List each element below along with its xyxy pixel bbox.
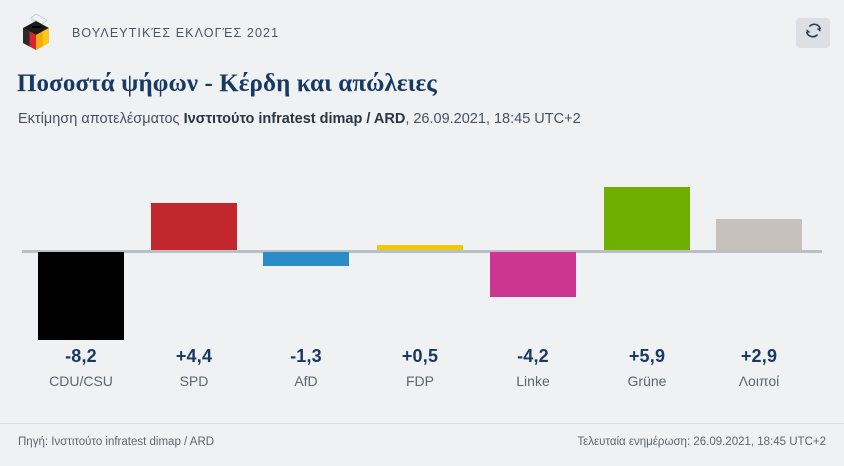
bar-category-label: Linke [473,370,593,392]
bar-afd[interactable] [263,252,349,266]
bar-value-label: -4,2 [473,345,593,367]
label-group: -8,2CDU/CSU [21,345,141,392]
bar-value-label: -8,2 [21,345,141,367]
bar-chart: -8,2CDU/CSU+4,4SPD-1,3AfD+0,5FDP-4,2Link… [0,150,844,405]
bar-category-label: FDP [360,370,480,392]
bar-fdp[interactable] [377,245,463,250]
label-group: -4,2Linke [473,345,593,392]
refresh-icon [804,21,823,45]
header: ΒΟΥΛΕΥΤΙΚΈΣ ΕΚΛΟΓΈΣ 2021 [0,0,844,62]
refresh-button[interactable] [796,18,830,48]
brand: ΒΟΥΛΕΥΤΙΚΈΣ ΕΚΛΟΓΈΣ 2021 [16,12,279,54]
subtitle-prefix: Εκτίμηση αποτελέσματος [18,111,184,127]
bar-[interactable] [716,219,802,250]
bar-value-label: +4,4 [134,345,254,367]
page-title: Ποσοστά ψήφων - Κέρδη και απώλειες [17,70,437,98]
ballot-box-icon [16,12,58,54]
bar-linke[interactable] [490,252,576,297]
footer: Πηγή: Ινστιτούτο infratest dimap / ARD Τ… [0,423,844,466]
bar-gr-ne[interactable] [604,187,690,250]
label-group: -1,3AfD [246,345,366,392]
bar-category-label: AfD [246,370,366,392]
label-group: +5,9Grüne [587,345,707,392]
subtitle-source: Ινστιτούτο infratest dimap / ARD [184,111,406,127]
bar-cdu-csu[interactable] [38,252,124,340]
zero-baseline [22,250,822,253]
labels-layer: -8,2CDU/CSU+4,4SPD-1,3AfD+0,5FDP-4,2Link… [0,345,844,405]
bar-value-label: +2,9 [699,345,819,367]
bar-value-label: +5,9 [587,345,707,367]
bar-value-label: -1,3 [246,345,366,367]
bar-category-label: CDU/CSU [21,370,141,392]
brand-title: ΒΟΥΛΕΥΤΙΚΈΣ ΕΚΛΟΓΈΣ 2021 [72,26,279,40]
bar-spd[interactable] [151,203,237,250]
bar-category-label: SPD [134,370,254,392]
page-subtitle: Εκτίμηση αποτελέσματος Ινστιτούτο infrat… [18,111,581,127]
label-group: +0,5FDP [360,345,480,392]
label-group: +4,4SPD [134,345,254,392]
bar-value-label: +0,5 [360,345,480,367]
subtitle-suffix: , 26.09.2021, 18:45 UTC+2 [405,111,580,127]
footer-source: Πηγή: Ινστιτούτο infratest dimap / ARD [18,436,214,448]
footer-updated: Τελευταία ενημέρωση: 26.09.2021, 18:45 U… [577,436,826,448]
bar-category-label: Λοιποί [699,370,819,392]
label-group: +2,9Λοιποί [699,345,819,392]
election-chart-page: ΒΟΥΛΕΥΤΙΚΈΣ ΕΚΛΟΓΈΣ 2021 Ποσοστά ψήφων -… [0,0,844,466]
bar-category-label: Grüne [587,370,707,392]
